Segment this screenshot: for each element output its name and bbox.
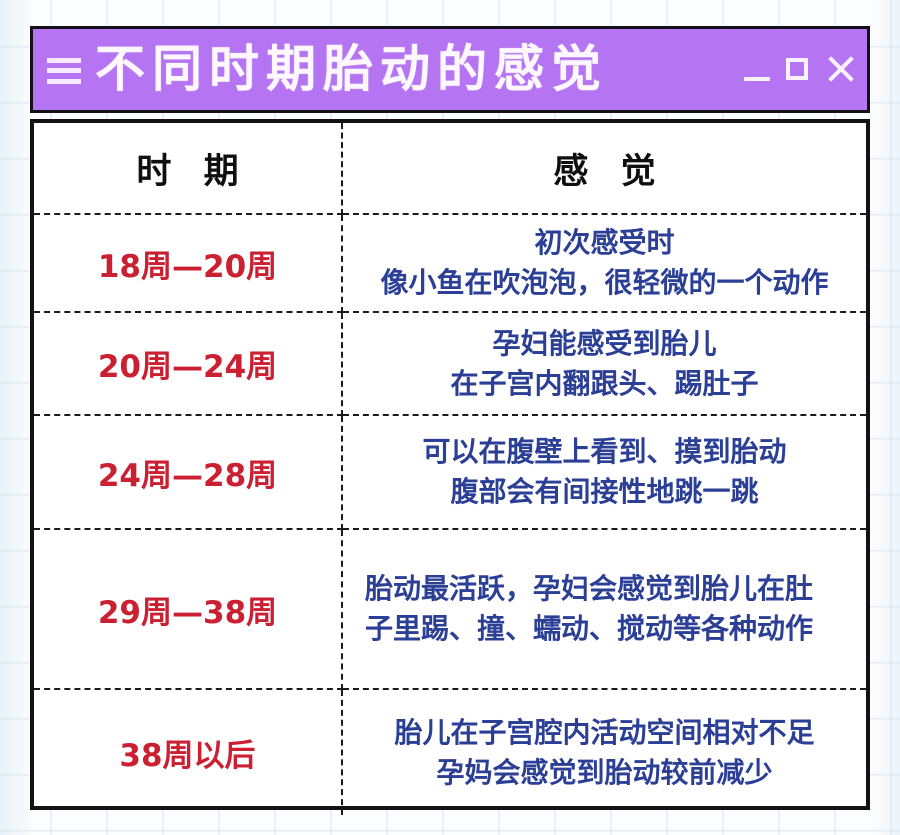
window-titlebar: 不同时期胎动的感觉 — [30, 26, 870, 113]
cell-period: 20周—24周 — [34, 312, 342, 415]
table-row: 24周—28周 可以在腹壁上看到、摸到胎动 腹部会有间接性地跳一跳 — [34, 415, 866, 529]
header-period: 时 期 — [34, 123, 342, 214]
close-icon[interactable] — [827, 55, 855, 85]
cell-feeling: 孕妇能感受到胎儿 在子宫内翻跟头、踢肚子 — [342, 312, 866, 415]
table-header-row: 时 期 感 觉 — [34, 123, 866, 214]
table-body: 18周—20周 初次感受时 像小鱼在吹泡泡，很轻微的一个动作 20周—24周 孕… — [34, 214, 866, 815]
window-title: 不同时期胎动的感觉 — [95, 44, 739, 94]
feeling-line: 胎儿在子宫腔内活动空间相对不足 — [343, 713, 866, 753]
info-table-card: 时 期 感 觉 18周—20周 初次感受时 像小鱼在吹泡泡，很轻微的一个动作 2… — [30, 119, 870, 810]
cell-feeling: 初次感受时 像小鱼在吹泡泡，很轻微的一个动作 — [342, 214, 866, 312]
table-row: 18周—20周 初次感受时 像小鱼在吹泡泡，很轻微的一个动作 — [34, 214, 866, 312]
cell-period: 24周—28周 — [34, 415, 342, 529]
cell-period: 29周—38周 — [34, 529, 342, 689]
feeling-line: 胎动最活跃，孕妇会感觉到胎儿在肚 — [365, 569, 866, 609]
cell-period: 38周以后 — [34, 689, 342, 815]
hamburger-icon[interactable] — [47, 58, 81, 84]
feeling-line: 子里踢、撞、蠕动、搅动等各种动作 — [365, 609, 866, 649]
cell-period: 18周—20周 — [34, 214, 342, 312]
feeling-line: 在子宫内翻跟头、踢肚子 — [343, 364, 866, 404]
table-row: 20周—24周 孕妇能感受到胎儿 在子宫内翻跟头、踢肚子 — [34, 312, 866, 415]
feeling-line: 可以在腹壁上看到、摸到胎动 — [343, 432, 866, 472]
table-header: 时 期 感 觉 — [34, 123, 866, 214]
table-row: 38周以后 胎儿在子宫腔内活动空间相对不足 孕妈会感觉到胎动较前减少 — [34, 689, 866, 815]
hamburger-line-3 — [47, 79, 81, 84]
cell-feeling: 胎动最活跃，孕妇会感觉到胎儿在肚 子里踢、撞、蠕动、搅动等各种动作 — [342, 529, 866, 689]
feeling-line: 初次感受时 — [343, 223, 866, 263]
header-feeling: 感 觉 — [342, 123, 866, 214]
feeling-line: 孕妇能感受到胎儿 — [343, 324, 866, 364]
minimize-icon[interactable] — [743, 55, 771, 85]
feeling-line: 孕妈会感觉到胎动较前减少 — [343, 753, 866, 793]
cell-feeling: 胎儿在子宫腔内活动空间相对不足 孕妈会感觉到胎动较前减少 — [342, 689, 866, 815]
feeling-line: 像小鱼在吹泡泡，很轻微的一个动作 — [343, 263, 866, 303]
page-root: 不同时期胎动的感觉 时 期 感 觉 — [0, 0, 900, 835]
app-window: 不同时期胎动的感觉 时 期 感 觉 — [30, 26, 870, 810]
feeling-line: 腹部会有间接性地跳一跳 — [343, 472, 866, 512]
cell-feeling: 可以在腹壁上看到、摸到胎动 腹部会有间接性地跳一跳 — [342, 415, 866, 529]
fetal-movement-table: 时 期 感 觉 18周—20周 初次感受时 像小鱼在吹泡泡，很轻微的一个动作 2… — [34, 123, 866, 815]
table-row: 29周—38周 胎动最活跃，孕妇会感觉到胎儿在肚 子里踢、撞、蠕动、搅动等各种动… — [34, 529, 866, 689]
maximize-icon[interactable] — [785, 55, 813, 85]
window-controls — [743, 55, 855, 85]
hamburger-line-1 — [47, 58, 81, 63]
hamburger-line-2 — [47, 68, 81, 73]
